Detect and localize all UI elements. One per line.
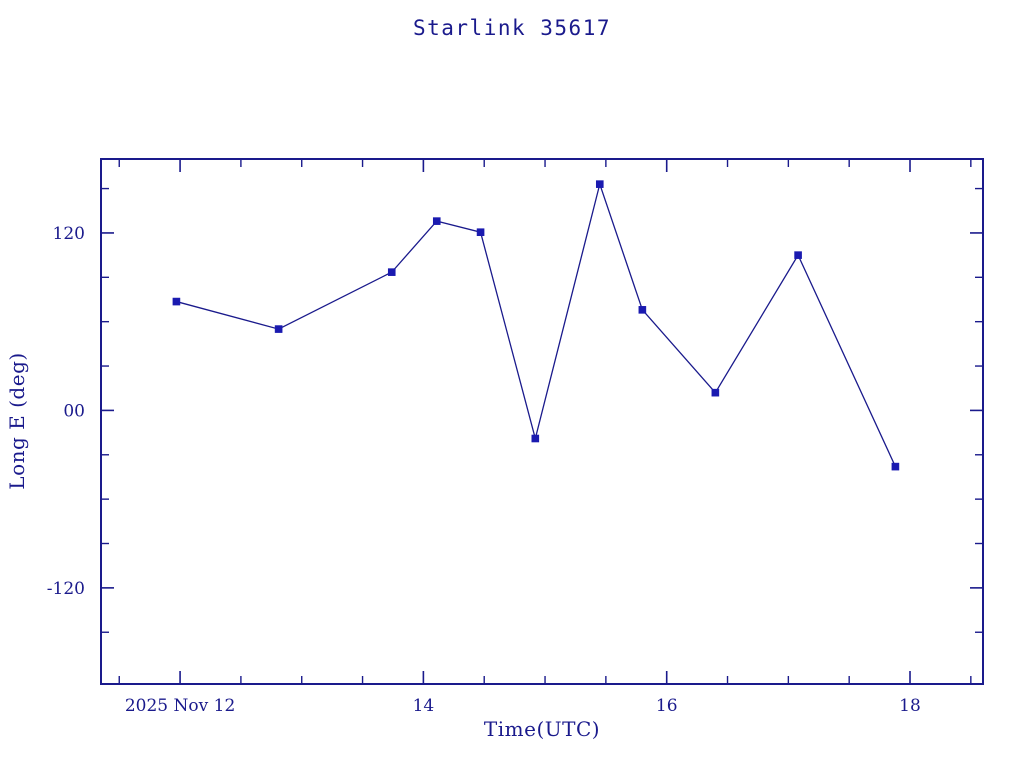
data-point-marker [892, 463, 899, 470]
data-point-marker [639, 306, 646, 313]
y-axis-tick-labels: 12000-120 [47, 224, 85, 599]
x-tick-label: 16 [656, 696, 678, 716]
x-axis-title: Time(UTC) [484, 717, 600, 741]
x-tick-label: 18 [899, 696, 921, 716]
data-point-marker [532, 435, 539, 442]
data-series-line [176, 184, 895, 466]
line-chart: 12000-120 2025 Nov 12141618 Time(UTC) Lo… [0, 0, 1024, 768]
data-point-marker [275, 326, 282, 333]
data-point-marker [712, 389, 719, 396]
data-point-marker [795, 252, 802, 259]
plot-frame [101, 159, 983, 684]
y-tick-label: 00 [63, 401, 85, 421]
x-axis-tick-labels: 2025 Nov 12141618 [125, 696, 921, 716]
data-point-markers [173, 181, 899, 470]
data-point-marker [173, 298, 180, 305]
chart-page: Starlink 35617 12000-120 2025 Nov 121416… [0, 0, 1024, 768]
data-point-marker [477, 229, 484, 236]
y-tick-label: 120 [53, 224, 85, 244]
y-tick-label: -120 [47, 579, 85, 599]
x-tick-label: 14 [413, 696, 435, 716]
x-tick-label: 2025 Nov 12 [125, 696, 235, 716]
data-point-marker [596, 181, 603, 188]
y-axis-title: Long E (deg) [5, 352, 29, 489]
x-axis-ticks [119, 159, 971, 684]
data-point-marker [433, 218, 440, 225]
data-point-marker [388, 269, 395, 276]
